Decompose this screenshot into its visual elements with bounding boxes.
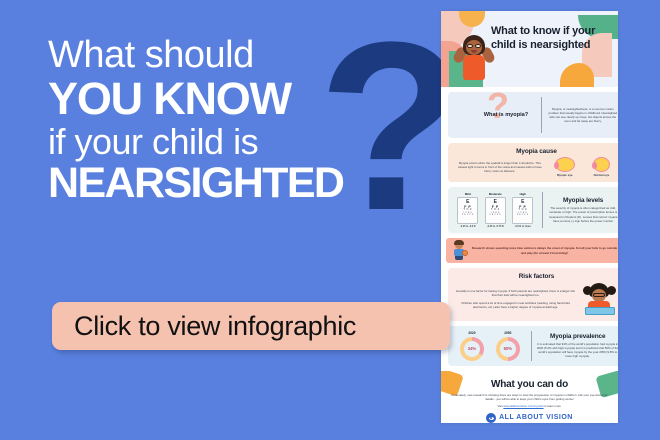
- brand-name: ALL ABOUT VISION: [499, 414, 573, 421]
- level-moderate-label: Moderate: [485, 192, 506, 196]
- level-high-range: -6.0 D or more: [512, 225, 533, 228]
- what-you-can-do-title: What you can do: [447, 379, 612, 390]
- donut-2020: 2020 34%: [460, 331, 484, 361]
- myopia-cause-title: Myopia cause: [454, 148, 618, 155]
- headline-line-2: YOU KNOW: [48, 76, 408, 121]
- what-is-myopia-label: What is myopia?: [476, 112, 536, 118]
- risk-factors-body-1: Heredity is one factor for having myopia…: [454, 289, 577, 297]
- donut-2050-value: 50%: [504, 346, 512, 351]
- section-myopia-levels: Mild E F P T O Z L P E D P E C F D -0.25…: [448, 187, 618, 233]
- headline-line-4: NEARSIGHTED: [48, 162, 408, 205]
- brand-logo: ALL ABOUT VISION: [447, 413, 612, 423]
- donut-2020-year: 2020: [460, 331, 484, 335]
- myopic-eye-diagram: Myopic eye: [555, 157, 575, 177]
- eye-diagrams: Myopic eye Normal eye: [546, 157, 618, 177]
- reading-child-illustration: [581, 282, 618, 316]
- risk-factors-title: Risk factors: [454, 273, 618, 280]
- chart-row: P E C F D: [459, 214, 476, 216]
- donut-2050-ring: 50%: [496, 337, 520, 361]
- section-what-is-myopia: ? What is myopia? Myopia, or nearsighted…: [448, 92, 618, 138]
- research-banner: Research shows spending more time outdoo…: [446, 238, 618, 263]
- normal-eye-diagram: Normal eye: [593, 157, 610, 177]
- normal-eye-caption: Normal eye: [593, 173, 610, 177]
- level-high: High E F P T O Z L P E D P E C F D -6.0 …: [512, 192, 533, 228]
- research-banner-text: Research shows spending more time outdoo…: [471, 246, 618, 254]
- headline-line-3: if your child is: [48, 124, 408, 160]
- level-mild-label: Mild: [457, 192, 478, 196]
- girl-illustration: [456, 33, 492, 81]
- eye-chart-icon: E F P T O Z L P E D P E C F D: [485, 197, 506, 224]
- level-mild: Mild E F P T O Z L P E D P E C F D -0.25…: [457, 192, 478, 228]
- myopia-levels-body: The severity of myopia is often categori…: [547, 206, 618, 223]
- chart-row: P E C F D: [514, 214, 531, 216]
- risk-factors-body-2: Children who spend a lot of time engaged…: [454, 301, 577, 309]
- decorative-blob-icon: [560, 63, 594, 87]
- chart-row: P E C F D: [487, 214, 504, 216]
- eye-icon: [486, 413, 496, 423]
- eye-chart-icon: E F P T O Z L P E D P E C F D: [457, 197, 478, 224]
- donut-2050-year: 2050: [496, 331, 520, 335]
- infographic-header: What to know if your child is nearsighte…: [441, 11, 618, 87]
- level-moderate: Moderate E F P T O Z L P E D P E C F D -…: [485, 192, 506, 228]
- divider: [541, 97, 542, 133]
- what-is-myopia-body: Myopia, or nearsightedness, is a common …: [547, 107, 618, 124]
- myopic-eye-caption: Myopic eye: [555, 173, 575, 177]
- level-moderate-range: -3.25 to -5.75 D: [485, 225, 506, 228]
- promo-headline: What should YOU KNOW if your child is NE…: [48, 36, 408, 205]
- basketball-kid-icon: [451, 241, 468, 260]
- myopia-levels-title: Myopia levels: [547, 197, 618, 204]
- level-mild-range: -0.25 to -3.0 D: [457, 225, 478, 228]
- divider: [531, 331, 532, 361]
- section-myopia-cause: Myopia cause Myopia occurs when the eyeb…: [448, 143, 618, 182]
- infographic-thumbnail[interactable]: What to know if your child is nearsighte…: [441, 11, 618, 423]
- headline-line-1: What should: [48, 36, 408, 74]
- divider: [542, 192, 543, 228]
- view-infographic-button[interactable]: Click to view infographic: [52, 302, 450, 350]
- donut-2020-ring: 34%: [460, 337, 484, 361]
- myopia-cause-body: Myopia occurs when the eyeball is longer…: [454, 161, 546, 174]
- eye-chart-group: Mild E F P T O Z L P E D P E C F D -0.25…: [454, 192, 537, 228]
- donut-2050: 2050 50%: [496, 331, 520, 361]
- visit-line: Visit www.allaboutvision.com/myopia/ to …: [447, 404, 612, 408]
- eyeball-icon: [555, 157, 575, 172]
- prevalence-body: It is estimated that 34% of the world's …: [536, 342, 618, 359]
- ghost-question-mark-icon: ?: [487, 88, 509, 124]
- eye-chart-icon: E F P T O Z L P E D P E C F D: [512, 197, 533, 224]
- section-risk-factors: Risk factors Heredity is one factor for …: [448, 268, 618, 321]
- what-you-can-do-body: Fortunately, new research is showing the…: [447, 393, 612, 401]
- donut-2020-value: 34%: [468, 346, 476, 351]
- prevalence-donut-charts: 2020 34% 2050 50%: [454, 331, 526, 361]
- level-high-label: High: [512, 192, 533, 196]
- promo-banner: ? What should YOU KNOW if your child is …: [0, 0, 660, 440]
- allaboutvision-link[interactable]: www.allaboutvision.com/myopia/: [503, 404, 543, 408]
- prevalence-title: Myopia prevalence: [536, 333, 618, 340]
- eyeball-icon: [593, 157, 610, 172]
- section-what-you-can-do: What you can do Fortunately, new researc…: [441, 371, 618, 424]
- section-myopia-prevalence: 2020 34% 2050 50% Myopia prevalence: [448, 326, 618, 366]
- infographic-title: What to know if your child is nearsighte…: [491, 24, 599, 52]
- visit-suffix: to learn more.: [544, 404, 562, 408]
